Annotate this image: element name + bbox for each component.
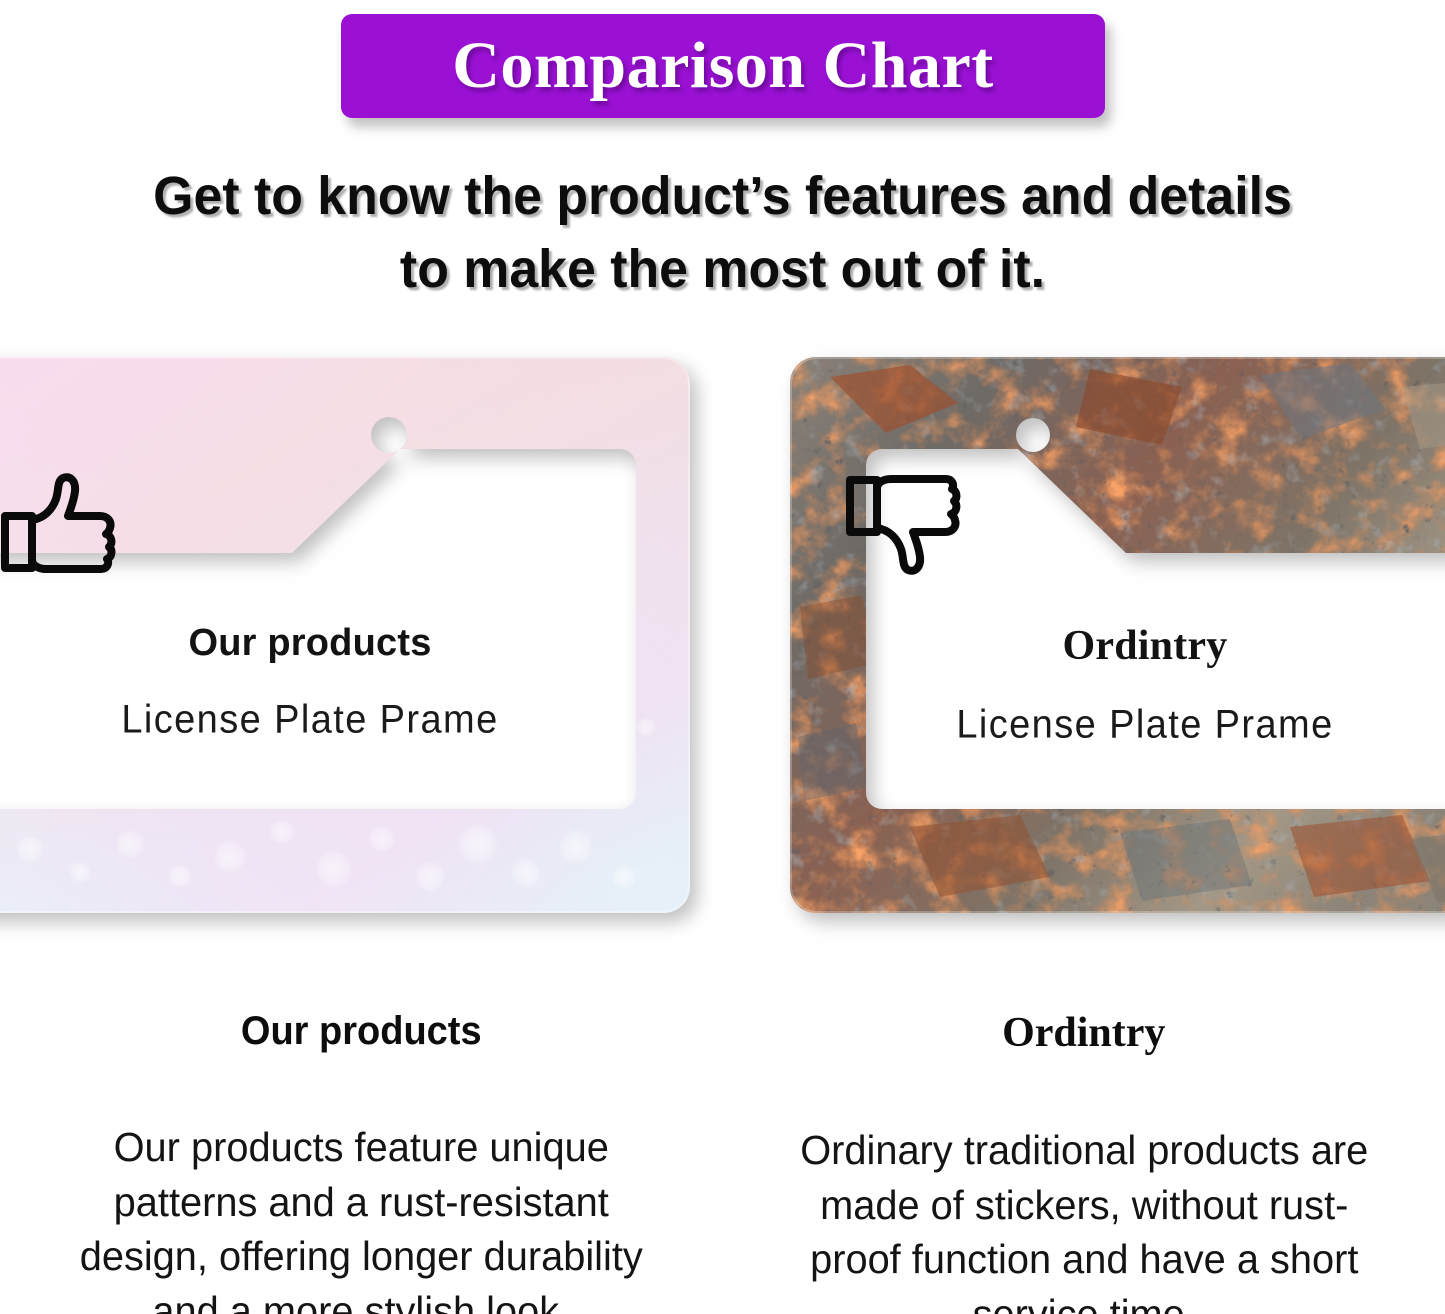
description-body-ours: Our products feature unique patterns and… xyxy=(40,1120,683,1314)
page-title: Comparison Chart xyxy=(452,28,994,104)
description-heading-ours: Our products xyxy=(47,1009,676,1054)
title-banner-container: Comparison Chart xyxy=(341,14,1105,118)
comparison-chart-page: Comparison Chart Get to know the product… xyxy=(0,0,1445,1314)
product-frame-ordinary xyxy=(790,357,1445,913)
frames-row: Our products License Plate Prame Ordintr… xyxy=(0,352,1445,922)
description-heading-ordinary: Ordintry xyxy=(753,1009,1416,1057)
description-column-ours: Our products Our products feature unique… xyxy=(0,985,723,1314)
title-banner: Comparison Chart xyxy=(341,14,1105,118)
description-columns: Our products Our products feature unique… xyxy=(0,985,1445,1314)
description-body-ordinary: Ordinary traditional products are made o… xyxy=(762,1123,1405,1314)
description-column-ordinary: Ordintry Ordinary traditional products a… xyxy=(723,985,1445,1314)
subtitle-text: Get to know the product’s features and d… xyxy=(144,160,1301,306)
product-frame-ours xyxy=(0,357,690,913)
